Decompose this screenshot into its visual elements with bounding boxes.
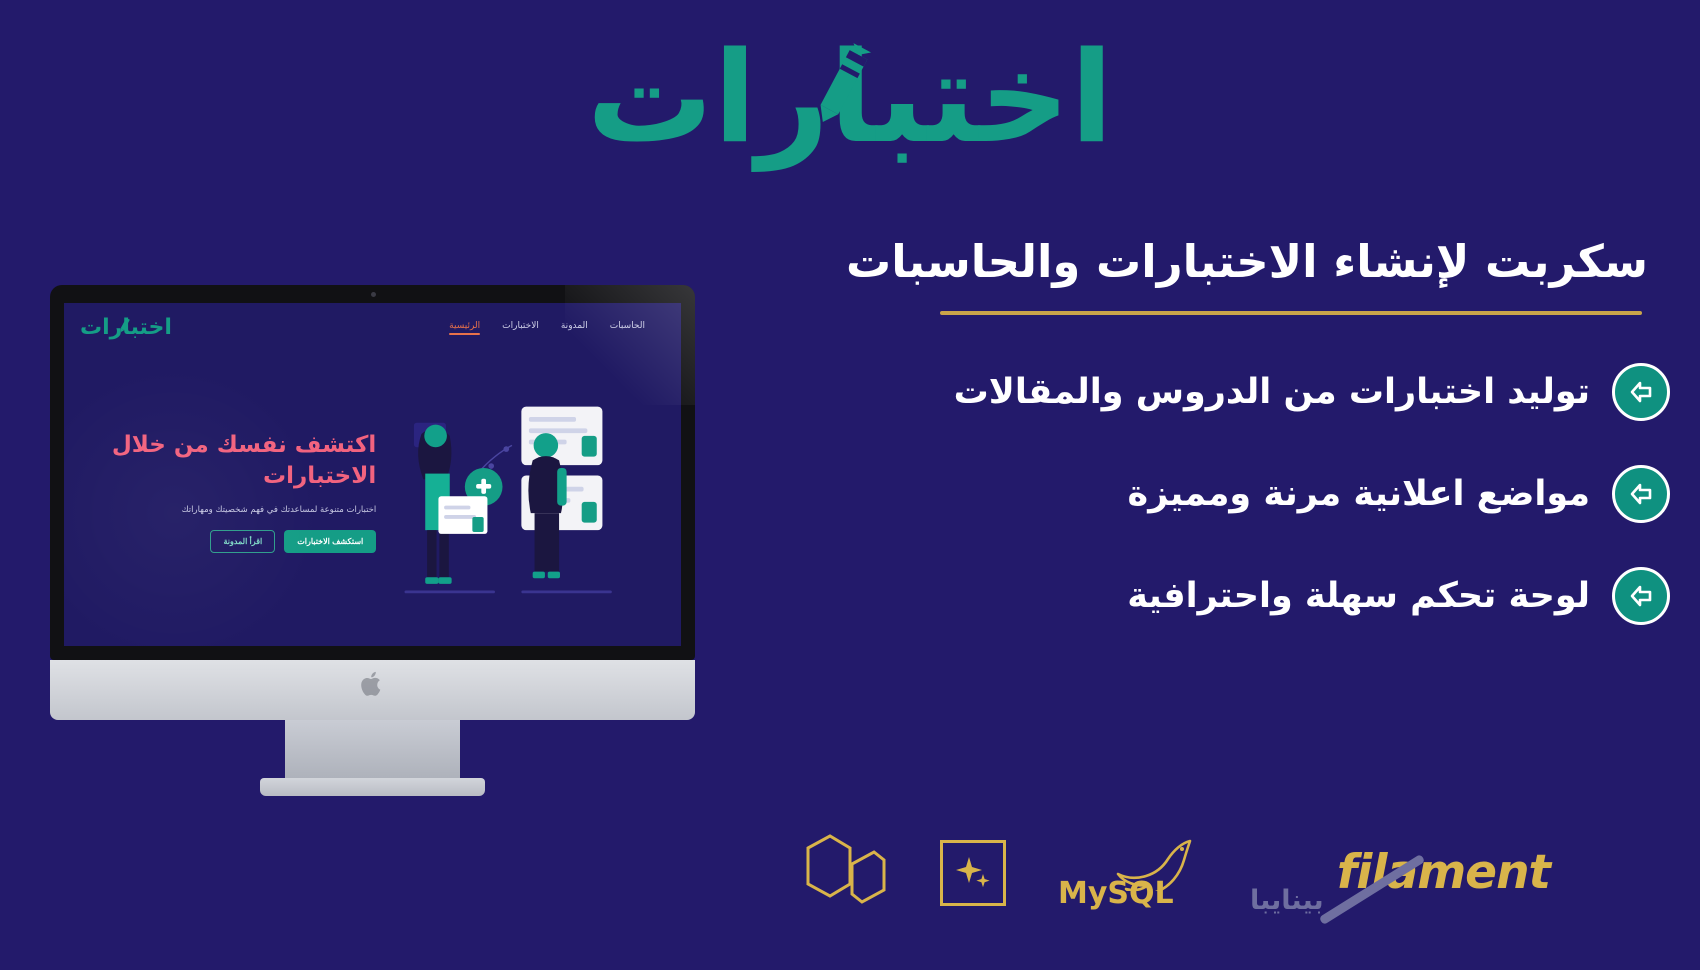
- hero-subtitle: اختبارات متنوعة لمساعدتك في فهم شخصيتك و…: [74, 505, 376, 515]
- feature-label-1: توليد اختبارات من الدروس والمقالات: [954, 372, 1590, 412]
- filament-logo: filament بينايبا: [1250, 838, 1550, 908]
- feature-label-2: مواضع اعلانية مرنة ومميزة: [1128, 474, 1590, 514]
- arrow-left-icon: [1612, 363, 1670, 421]
- feature-item-1: توليد اختبارات من الدروس والمقالات: [820, 363, 1670, 421]
- people-illustration-svg: [380, 340, 663, 643]
- nav-links: الحاسبات المدونة الاختبارات الرئيسية: [449, 321, 645, 335]
- nav-item-home[interactable]: الرئيسية: [449, 321, 480, 335]
- hero-copy: اكتشف نفسك من خلال الاختبارات اختبارات م…: [74, 430, 380, 553]
- explore-tests-button[interactable]: استكشف الاختبارات: [284, 530, 376, 553]
- tech-logos: MySQL filament بينايبا: [802, 834, 1550, 912]
- mysql-logo: MySQL: [1058, 835, 1198, 911]
- logo-wrap: اختبارات: [587, 35, 1114, 161]
- monitor-bezel: الحاسبات المدونة الاختبارات الرئيسية اخت…: [50, 285, 695, 660]
- ai-sparkle-logo: [940, 840, 1006, 906]
- feature-item-2: مواضع اعلانية مرنة ومميزة: [820, 465, 1670, 523]
- laravel-logo: [802, 834, 888, 912]
- nav-item-calculators[interactable]: الحاسبات: [610, 321, 645, 335]
- webcam-icon: [371, 292, 376, 297]
- apple-logo-icon: [361, 670, 385, 698]
- hero-title: اكتشف نفسك من خلال الاختبارات: [74, 430, 376, 492]
- nav-item-tests[interactable]: الاختبارات: [502, 321, 539, 335]
- right-content: سكربت لإنشاء الاختبارات والحاسبات توليد …: [820, 235, 1700, 669]
- mysql-wordmark: MySQL: [1058, 876, 1174, 911]
- feature-item-3: لوحة تحكم سهلة واحترافية: [820, 567, 1670, 625]
- read-blog-button[interactable]: اقرأ المدونة: [210, 530, 275, 553]
- hero-title-line1: اكتشف نفسك من خلال: [74, 430, 376, 461]
- page-title: سكربت لإنشاء الاختبارات والحاسبات: [820, 235, 1690, 289]
- site-logo[interactable]: اختبارات: [80, 315, 172, 340]
- website-screen: الحاسبات المدونة الاختبارات الرئيسية اخت…: [64, 303, 681, 646]
- monitor-foot: [260, 778, 485, 796]
- brand-logo: اختبارات: [0, 18, 1700, 178]
- arrow-left-icon: [1612, 567, 1670, 625]
- filament-signature: بينايبا: [1250, 885, 1324, 916]
- hero-illustration: [380, 340, 663, 643]
- site-hero: اكتشف نفسك من خلال الاختبارات اختبارات م…: [64, 340, 681, 643]
- sparkle-icon: [952, 852, 994, 894]
- title-divider: [940, 311, 1642, 315]
- arrow-left-icon: [1612, 465, 1670, 523]
- feature-list: توليد اختبارات من الدروس والمقالات مواضع…: [820, 363, 1690, 625]
- feature-label-3: لوحة تحكم سهلة واحترافية: [1127, 576, 1590, 616]
- monitor-chin: [50, 660, 695, 720]
- monitor-neck: [285, 720, 460, 778]
- nav-item-blog[interactable]: المدونة: [561, 321, 588, 335]
- hero-buttons: استكشف الاختبارات اقرأ المدونة: [74, 530, 376, 553]
- hero-title-line2: الاختبارات: [74, 461, 376, 492]
- imac-mockup: الحاسبات المدونة الاختبارات الرئيسية اخت…: [50, 285, 695, 796]
- site-navbar: الحاسبات المدونة الاختبارات الرئيسية اخت…: [64, 303, 681, 340]
